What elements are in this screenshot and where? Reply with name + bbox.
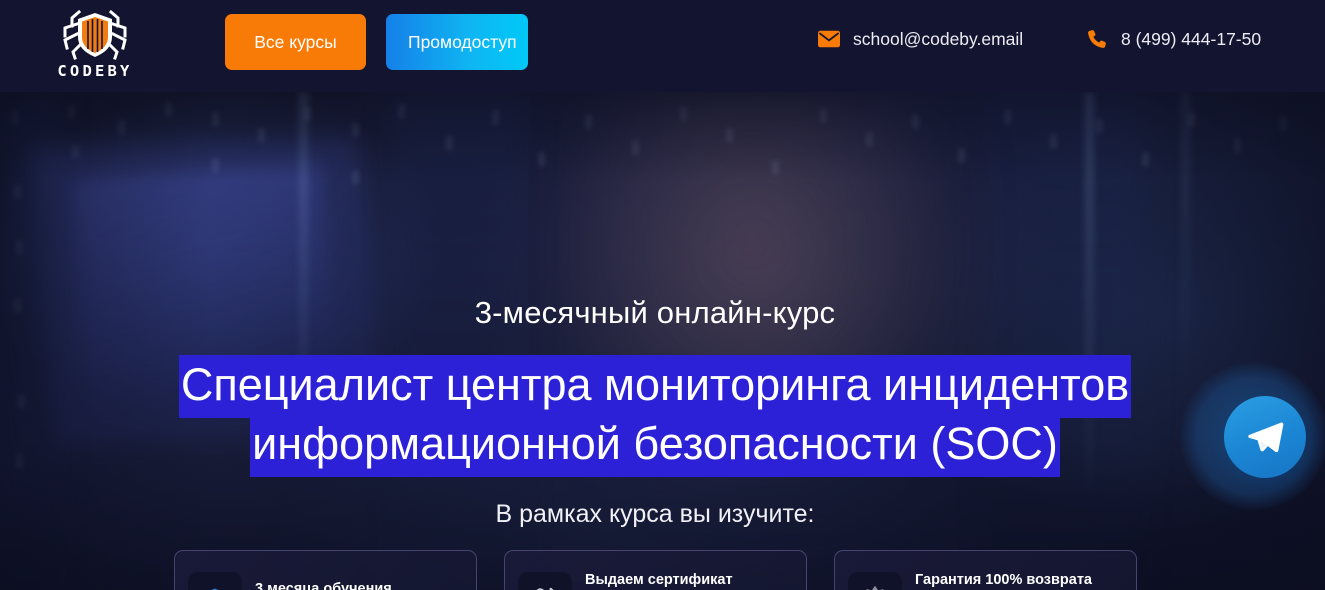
promo-access-button[interactable]: Промодоступ [386,14,528,70]
feature-card: $ Гарантия 100% возврата средств в первы… [834,550,1137,590]
hero-headline: Специалист центра мониторинга инцидентов… [0,355,1310,473]
site-header: CODEBY Все курсы Промодоступ school@code… [0,0,1325,92]
contact-email-text: school@codeby.email [853,29,1023,50]
all-courses-button[interactable]: Все курсы [225,14,366,70]
codeby-spider-shield-logo [59,6,131,62]
envelope-icon [818,28,840,50]
contact-email[interactable]: school@codeby.email [818,28,1023,50]
feature-card: Выдаем сертификат после успешной сдачи э… [504,550,807,590]
graduation-cap-icon [188,572,242,590]
hero-section: 3-месячный онлайн-курс Специалист центра… [0,92,1325,590]
hero-eyebrow: 3-месячный онлайн-курс [0,295,1310,331]
hero-headline-line-1-text: Специалист центра мониторинга инцидентов [179,355,1131,418]
contact-phone[interactable]: 8 (499) 444-17-50 [1086,28,1261,50]
feature-card-title: Гарантия 100% возврата [915,571,1122,590]
hero-subheading: В рамках курса вы изучите: [0,500,1310,529]
logo-wordmark: CODEBY [57,64,132,80]
telegram-floating-button[interactable] [1224,396,1306,478]
telegram-icon [1245,417,1285,457]
certificate-scroll-icon [518,572,572,590]
hero-headline-line-2: информационной безопасности (SOC) [0,414,1310,473]
contact-phone-text: 8 (499) 444-17-50 [1121,29,1261,50]
feature-card: 3 месяца обучения с видеоуроками и задан… [174,550,477,590]
feature-card-title: 3 месяца обучения [255,580,452,590]
hero-headline-line-1: Специалист центра мониторинга инцидентов [0,355,1310,414]
phone-icon [1086,28,1108,50]
feature-card-list: 3 месяца обучения с видеоуроками и задан… [174,550,1137,590]
hero-headline-line-2-text: информационной безопасности (SOC) [250,414,1060,477]
feature-card-title: Выдаем сертификат [585,571,792,590]
money-bag-icon: $ [848,572,902,590]
landing-page: CODEBY Все курсы Промодоступ school@code… [0,0,1325,590]
site-logo[interactable]: CODEBY [38,6,152,86]
